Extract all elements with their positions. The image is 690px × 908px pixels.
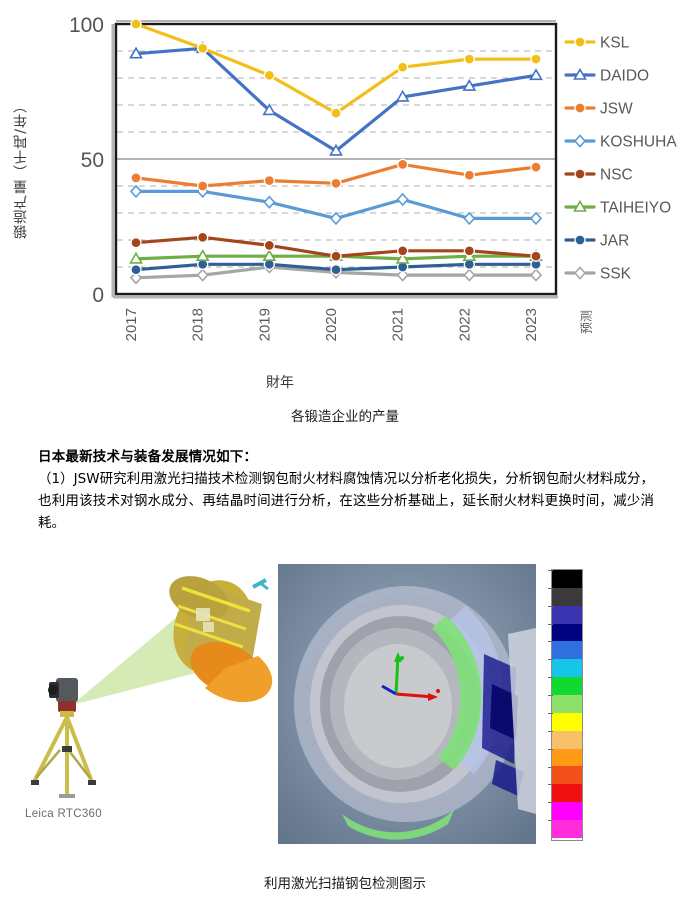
legend-label: TAIHEIYO — [600, 200, 671, 217]
chart-data-point — [131, 173, 141, 183]
figure-caption: 利用激光扫描钢包检测图示 — [0, 872, 690, 892]
figure-photo-strip: Leica RTC360 — [0, 560, 690, 860]
chart-x-tick-label: 2020 — [323, 308, 340, 341]
colorbar-tick — [548, 820, 553, 821]
chart-legend-item-jsw[interactable]: JSW — [566, 101, 633, 118]
pointcloud-svg — [278, 564, 536, 844]
colorbar-segment — [552, 749, 582, 767]
colorbar-tick — [548, 570, 553, 571]
chart-data-point — [575, 136, 585, 147]
chart-data-point — [575, 37, 585, 47]
chart-x-tick-label: 2018 — [190, 308, 207, 341]
chart-data-point — [464, 170, 474, 180]
chart-data-point — [198, 232, 208, 242]
chart-data-point — [464, 246, 474, 256]
chart-data-point — [331, 251, 341, 261]
laser-scanner-illustration: Leica RTC360 — [0, 560, 275, 855]
colorbar-segment — [552, 677, 582, 695]
chart-data-point — [331, 108, 341, 118]
chart-y-axis-title: 锻造产量（千吨/年） — [6, 58, 36, 278]
chart-y-tick-label: 50 — [81, 149, 104, 172]
chart-data-point — [131, 238, 141, 248]
chart-data-point — [264, 70, 274, 80]
chart-data-point — [575, 169, 585, 179]
section-heading: 日本最新技术与装备发展情况如下： — [38, 445, 654, 465]
chart-data-point — [198, 181, 208, 191]
chart-legend-item-ksl[interactable]: KSL — [566, 35, 630, 52]
colorbar-segment — [552, 606, 582, 624]
ladle-pointcloud-scan — [278, 564, 536, 844]
legend-label: JAR — [600, 233, 629, 250]
chart-legend-item-daido[interactable]: DAIDO — [566, 68, 649, 85]
colorbar-tick — [548, 606, 553, 607]
colorbar-segment — [552, 784, 582, 802]
chart-x-tick-label: 2017 — [123, 308, 140, 341]
colorbar-segment — [552, 570, 582, 588]
colorbar-tick — [548, 677, 553, 678]
legend-label: NSC — [600, 167, 633, 184]
colorbar-segment — [552, 641, 582, 659]
colorbar-segment — [552, 695, 582, 713]
ladle-icon — [160, 568, 272, 704]
colorbar-segment — [552, 588, 582, 606]
body-text-block: 日本最新技术与装备发展情况如下： （1）JSW研究利用激光扫描技术检测钢包耐火材… — [38, 445, 654, 535]
colorbar-segment — [552, 820, 582, 838]
colorbar-segment — [552, 659, 582, 677]
chart-data-point — [531, 54, 541, 64]
legend-label: JSW — [600, 101, 633, 118]
colorbar-tick — [548, 784, 553, 785]
colorbar-segment — [552, 731, 582, 749]
chart-data-point — [464, 54, 474, 64]
colorbar-tick — [548, 731, 553, 732]
scanner-model-label: Leica RTC360 — [25, 808, 102, 820]
chart-x-tick-label: 2019 — [256, 308, 273, 341]
section-paragraph: （1）JSW研究利用激光扫描技术检测钢包耐火材料腐蚀情况以分析老化损失，分析钢包… — [38, 469, 654, 535]
chart-data-point — [264, 240, 274, 250]
chart-data-point — [198, 43, 208, 53]
chart-x-tick-label: 2022 — [456, 308, 473, 341]
chart-data-point — [131, 265, 141, 275]
chart-data-point — [398, 159, 408, 169]
colorbar-tick — [548, 624, 553, 625]
chart-x-axis-title: 財年 — [0, 372, 560, 392]
chart-caption: 各锻造企业的产量 — [0, 405, 690, 425]
legend-label: KSL — [600, 35, 630, 52]
legend-label: KOSHUHA — [600, 134, 677, 151]
colorbar-tick — [548, 641, 553, 642]
colorbar-segment — [552, 802, 582, 820]
chart-data-point — [575, 268, 585, 279]
chart-data-point — [398, 246, 408, 256]
colorbar-tick — [548, 588, 553, 589]
colorbar-tick — [548, 695, 553, 696]
chart-y-tick-label: 100 — [69, 14, 104, 37]
chart-x-tick-label: 2021 — [390, 308, 407, 341]
legend-label: DAIDO — [600, 68, 649, 85]
chart-data-point — [131, 19, 141, 29]
chart-legend-item-jar[interactable]: JAR — [566, 233, 629, 250]
chart-data-point — [575, 103, 585, 113]
colorbar-tick — [548, 802, 553, 803]
colorbar-tick — [548, 713, 553, 714]
colorbar-tick — [548, 659, 553, 660]
colorbar-segment — [552, 624, 582, 642]
colorbar-tick — [548, 749, 553, 750]
forging-output-chart: 锻造产量（千吨/年） 05010020172018201920202021202… — [0, 0, 690, 400]
colorbar-tick — [548, 767, 553, 768]
chart-data-point — [531, 162, 541, 172]
chart-canvas: 0501002017201820192020202120222023预测KSLD… — [0, 0, 690, 400]
colorbar-segment — [552, 766, 582, 784]
chart-data-point — [331, 178, 341, 188]
chart-legend-item-ssk[interactable]: SSK — [566, 266, 632, 283]
chart-x-tick-label: 2023 — [523, 308, 540, 341]
chart-data-point — [264, 176, 274, 186]
chart-y-tick-label: 0 — [92, 284, 104, 307]
chart-legend-item-nsc[interactable]: NSC — [566, 167, 633, 184]
chart-data-point — [531, 251, 541, 261]
chart-data-point — [398, 62, 408, 72]
chart-data-point — [575, 235, 585, 245]
colorbar-segment — [552, 713, 582, 731]
chart-legend-item-taiheiyo[interactable]: TAIHEIYO — [566, 200, 671, 217]
depth-colorbar — [551, 569, 583, 841]
chart-legend-item-koshuha[interactable]: KOSHUHA — [566, 134, 677, 151]
chart-forecast-label: 预测 — [580, 310, 594, 334]
legend-label: SSK — [600, 266, 632, 283]
chart-data-point — [331, 265, 341, 275]
